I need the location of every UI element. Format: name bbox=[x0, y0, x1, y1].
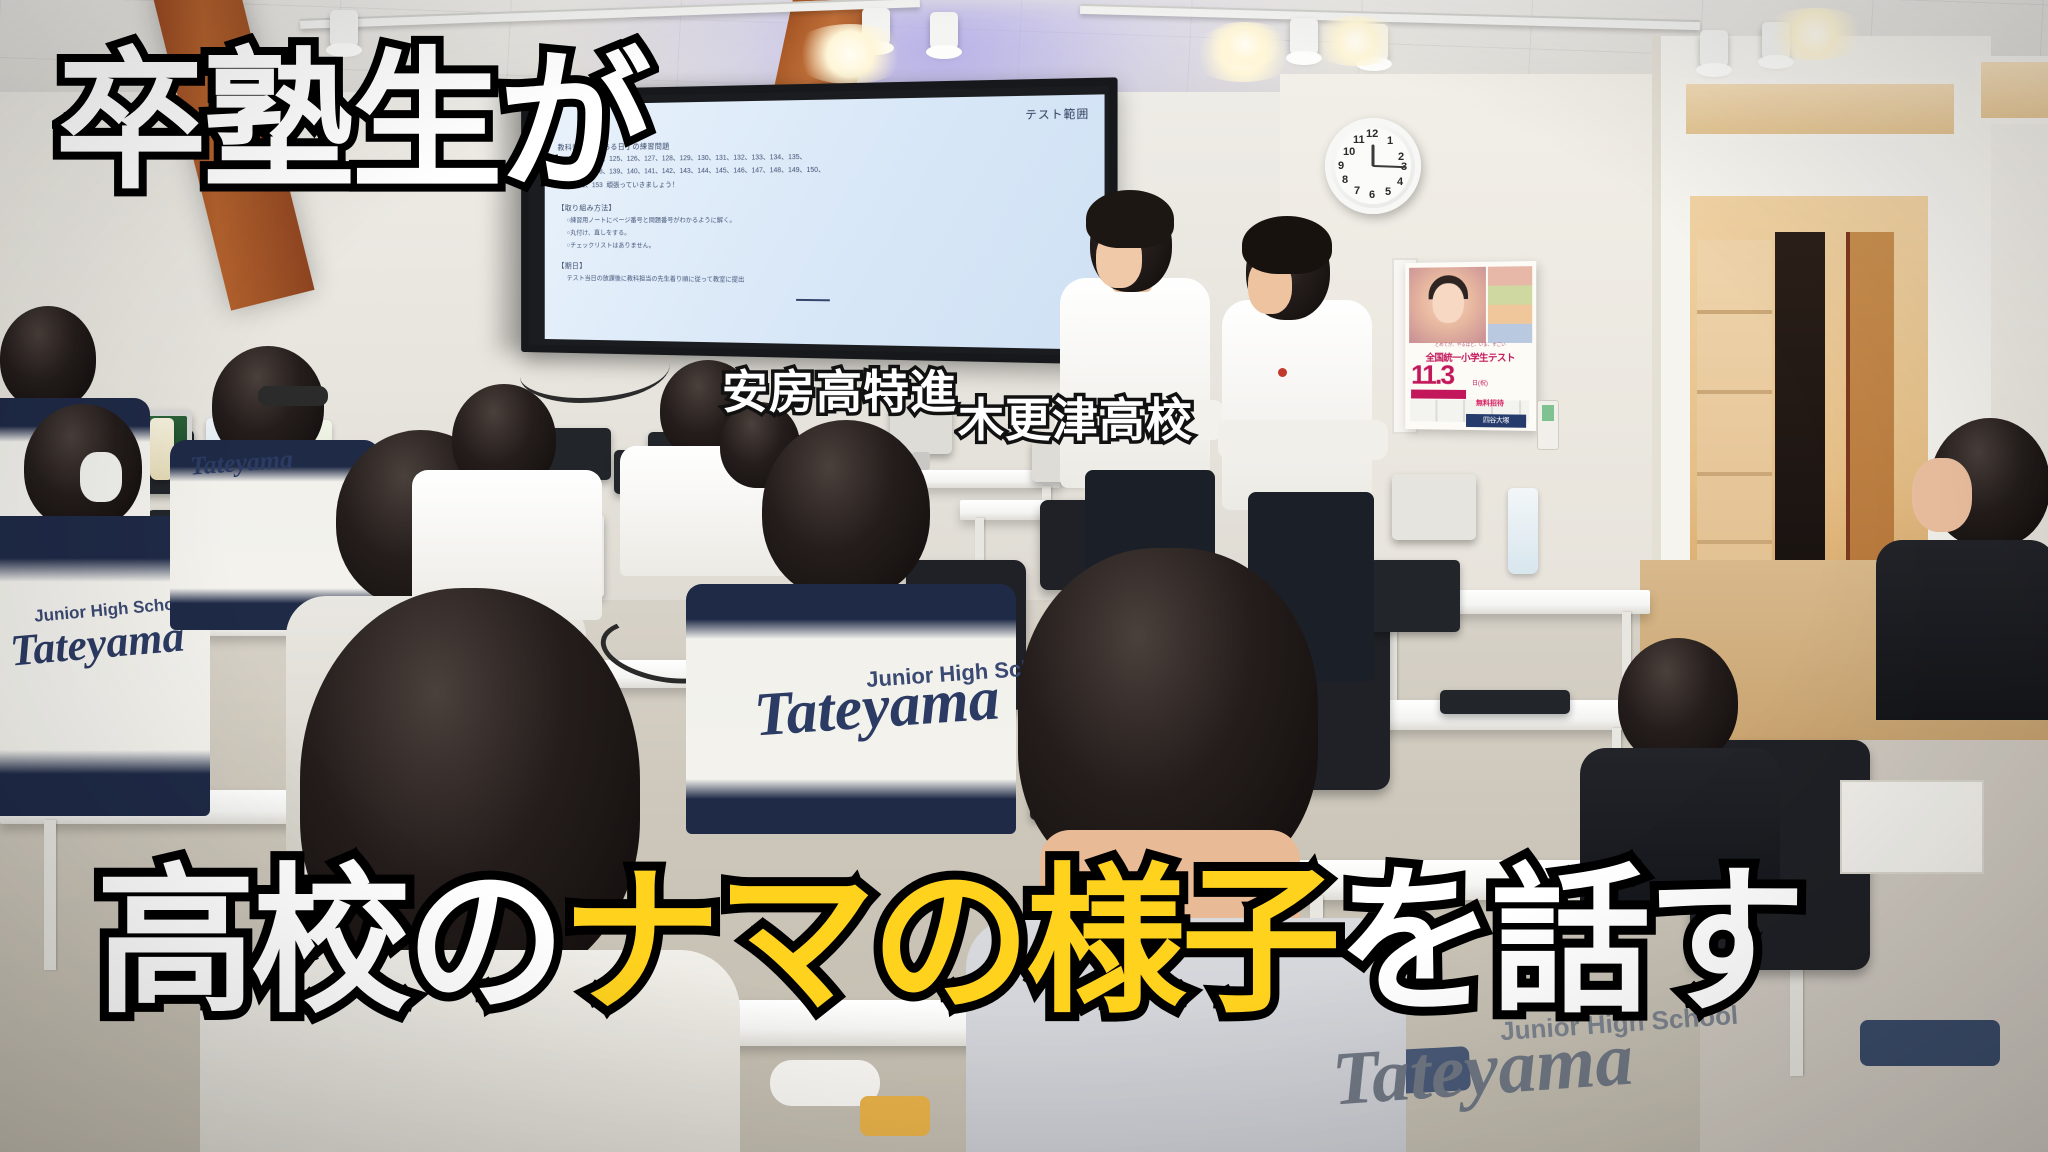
tablet-device[interactable] bbox=[1392, 474, 1476, 540]
headline-bottom-part-3: を話す bbox=[1336, 852, 1801, 1031]
wood-door-panel bbox=[1846, 232, 1894, 582]
headline-bottom-part-1: 高校の bbox=[96, 852, 561, 1031]
document-method-item: ○練習用ノートにページ番号と問題番号がわかるように解く。 bbox=[558, 214, 1090, 228]
transom-window-small bbox=[1975, 56, 2048, 124]
clock-numeral: 7 bbox=[1354, 185, 1360, 197]
ac-remote-holder[interactable] bbox=[1537, 400, 1559, 450]
desk-leg bbox=[44, 820, 56, 970]
track-spotlight bbox=[1700, 30, 1728, 70]
poster-tagline: とめてが、やるほど、いま、すごい bbox=[1405, 342, 1536, 348]
clock-numeral: 10 bbox=[1343, 146, 1355, 158]
tablet-case bbox=[1440, 690, 1570, 714]
notebook bbox=[1840, 780, 1984, 874]
poster-photo-strip bbox=[1488, 266, 1532, 343]
pencil-case-yellow bbox=[860, 1096, 930, 1136]
thumbnail-canvas: テスト範囲 教科書の■■にある日丁の練習問題 122、123、124、125、1… bbox=[0, 0, 2048, 1152]
ceiling-downlight bbox=[1308, 16, 1404, 66]
face-mask bbox=[80, 452, 122, 502]
document-divider bbox=[796, 299, 830, 301]
dark-doorway bbox=[1775, 232, 1825, 592]
clock-numeral: 5 bbox=[1385, 186, 1391, 198]
poster-date: 11.3 bbox=[1411, 360, 1453, 391]
speaker-label-left: 安房高特進 bbox=[722, 356, 957, 422]
tablet-device[interactable] bbox=[1370, 560, 1460, 632]
track-spotlight bbox=[930, 12, 958, 52]
clock-numeral: 11 bbox=[1353, 134, 1365, 146]
clock-numeral: 9 bbox=[1338, 160, 1344, 172]
ceiling-downlight bbox=[1760, 8, 1870, 60]
student-head bbox=[762, 420, 930, 600]
eyeglasses bbox=[258, 386, 328, 406]
presenter-right-arms bbox=[1218, 420, 1388, 460]
presenter-right-hair bbox=[1242, 216, 1332, 274]
clock-numeral: 8 bbox=[1342, 174, 1348, 186]
clock-face: 12 1 2 3 4 5 6 7 8 9 10 11 bbox=[1335, 128, 1411, 204]
presenter-right-shirt bbox=[1222, 300, 1372, 510]
clock-numeral: 6 bbox=[1369, 189, 1375, 201]
poster-sponsor-logo: 四谷大塚 bbox=[1466, 414, 1526, 428]
poster-child-face bbox=[1433, 283, 1465, 323]
ceiling-downlight bbox=[1200, 22, 1290, 66]
speaker-label-right: 木更津高校 bbox=[958, 384, 1193, 450]
poster-ribbon bbox=[1411, 390, 1466, 399]
pencil-pouch bbox=[1860, 1020, 2000, 1066]
wall-poster: とめてが、やるほど、いま、すごい 全国統一小学生テスト 11.3 日(祝) 無料… bbox=[1405, 261, 1536, 431]
transom-window bbox=[1680, 78, 1960, 140]
clock-numeral: 12 bbox=[1366, 128, 1378, 140]
poster-free-badge: 無料招待 bbox=[1476, 398, 1504, 408]
clock-numeral: 1 bbox=[1387, 135, 1393, 147]
clock-numeral: 4 bbox=[1397, 176, 1403, 188]
student-head bbox=[0, 306, 96, 410]
clock-minute-hand bbox=[1373, 165, 1405, 168]
headline-bottom-part-2: ナマの様子 bbox=[561, 852, 1336, 1031]
wall-clock: 12 1 2 3 4 5 6 7 8 9 10 11 bbox=[1325, 118, 1421, 214]
presenter-left-hair bbox=[1086, 190, 1174, 248]
shirt-badge bbox=[1278, 368, 1287, 377]
headline-top: 卒塾生が bbox=[55, 46, 647, 198]
presenter-left-shirt bbox=[1060, 278, 1210, 488]
poster-date-suffix: 日(祝) bbox=[1472, 378, 1488, 387]
clock-hour-hand bbox=[1372, 145, 1375, 167]
ceiling-downlight bbox=[790, 24, 910, 84]
poster-photo bbox=[1409, 267, 1486, 343]
document-method-item: ○チェックリストはありません。 bbox=[558, 239, 1090, 254]
student-body bbox=[1876, 540, 2048, 720]
student-head bbox=[1618, 638, 1738, 766]
wooden-shelf-unit bbox=[1697, 240, 1772, 590]
drink-bottle bbox=[1508, 488, 1538, 574]
student-face bbox=[1912, 458, 1972, 532]
headline-bottom: 高校のナマの様子を話す bbox=[96, 862, 1801, 1022]
